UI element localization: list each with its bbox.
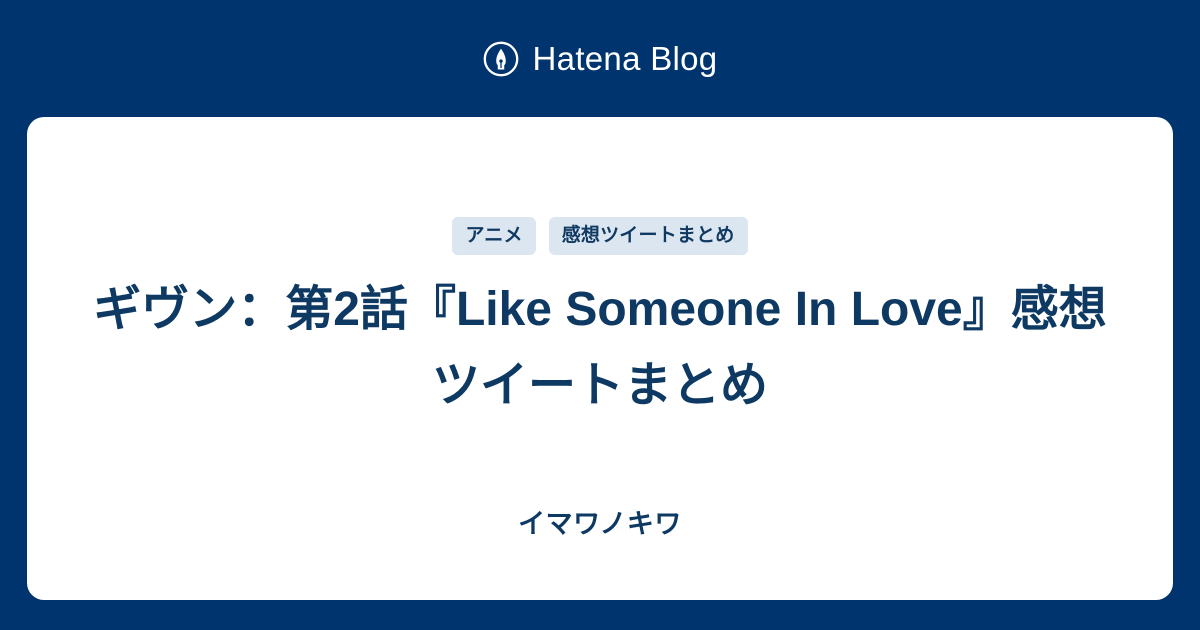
tag-item[interactable]: アニメ [452, 217, 535, 255]
hatena-blog-og-card: Hatena Blog アニメ 感想ツイートまとめ ギヴン：第2話『Like S… [0, 0, 1200, 630]
entry-panel: アニメ 感想ツイートまとめ ギヴン：第2話『Like Someone In Lo… [27, 117, 1173, 600]
brand-name: Hatena Blog [533, 42, 718, 75]
tag-item[interactable]: 感想ツイートまとめ [549, 217, 748, 255]
pen-nib-circle-icon [483, 41, 519, 77]
entry-title: ギヴン：第2話『Like Someone In Love』感想ツイートまとめ [27, 272, 1173, 424]
tag-list: アニメ 感想ツイートまとめ [452, 217, 747, 255]
brand-header: Hatena Blog [0, 0, 1200, 117]
blog-name: イマワノキワ [27, 508, 1173, 540]
